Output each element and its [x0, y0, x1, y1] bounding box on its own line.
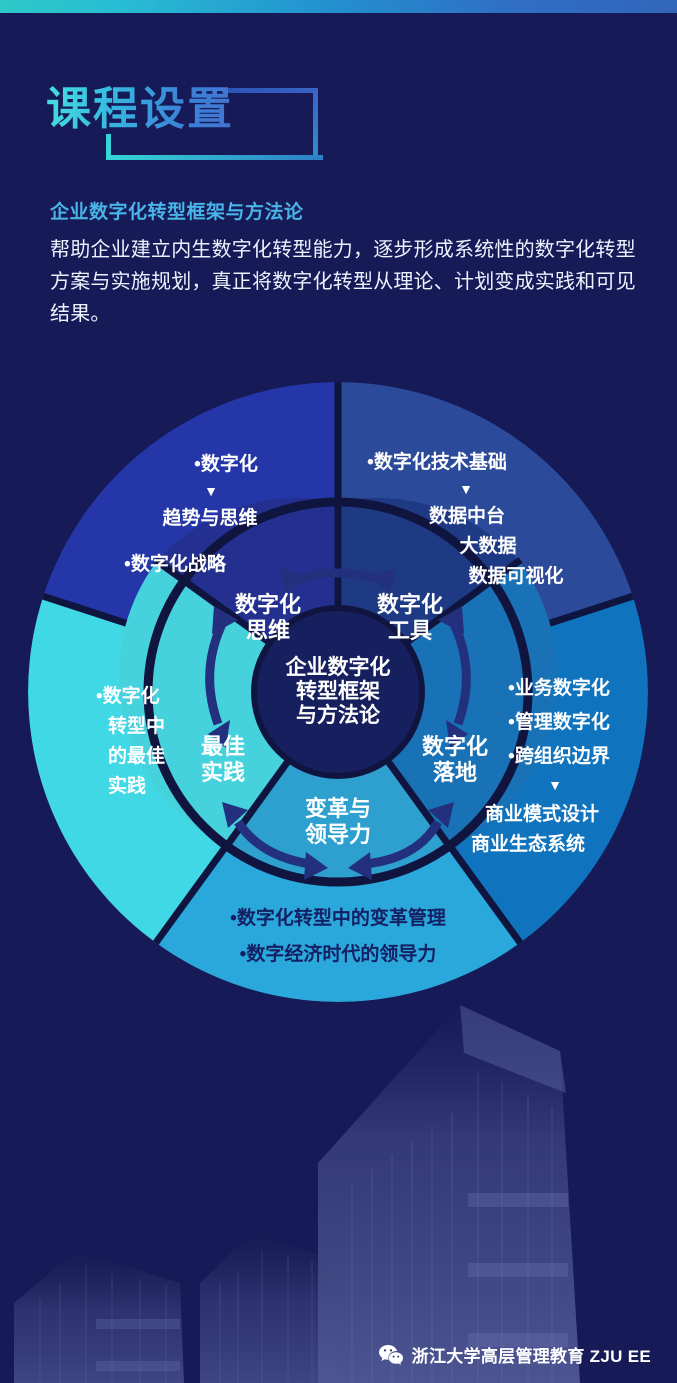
svg-text:商业生态系统: 商业生态系统 [471, 832, 585, 855]
svg-text:变革与: 变革与 [305, 796, 371, 821]
title-frame-right-edge [313, 88, 318, 160]
svg-text:趋势与思维: 趋势与思维 [162, 506, 257, 529]
svg-text:工具: 工具 [388, 618, 432, 643]
framework-donut-diagram: 企业数字化 转型框架 与方法论 数字化 思维 数字化 工具 数字化 落地 [18, 372, 658, 1012]
svg-text:•数字化: •数字化 [96, 684, 160, 707]
svg-text:思维: 思维 [246, 618, 290, 643]
inner-label-change-leadership: 变革与 领导力 [305, 796, 371, 847]
svg-text:商业模式设计: 商业模式设计 [485, 802, 599, 825]
svg-text:•业务数字化: •业务数字化 [508, 676, 610, 699]
building-middle [200, 1233, 336, 1383]
inner-label-best-practice: 最佳 实践 [201, 734, 245, 785]
svg-text:•跨组织边界: •跨组织边界 [508, 744, 610, 767]
center-label: 企业数字化 转型框架 与方法论 [285, 655, 391, 727]
svg-text:•数字化技术基础: •数字化技术基础 [367, 450, 507, 473]
page-title-block: 课程设置 [46, 80, 346, 165]
svg-text:数据中台: 数据中台 [429, 504, 505, 527]
center-line-2: 转型框架 [296, 679, 380, 703]
wechat-icon [378, 1344, 404, 1366]
center-line-3: 与方法论 [296, 703, 381, 727]
svg-text:的最佳: 的最佳 [108, 744, 165, 767]
svg-text:领导力: 领导力 [305, 822, 371, 847]
intro-heading: 企业数字化转型框架与方法论 [50, 200, 640, 226]
svg-text:•数字化战略: •数字化战略 [124, 552, 227, 575]
svg-text:•数字化转型中的变革管理: •数字化转型中的变革管理 [230, 906, 446, 929]
svg-text:数字化: 数字化 [377, 592, 443, 617]
svg-text:数字化: 数字化 [235, 592, 301, 617]
svg-text:实践: 实践 [108, 774, 146, 797]
center-line-1: 企业数字化 [285, 655, 391, 679]
svg-text:大数据: 大数据 [459, 534, 516, 557]
svg-text:数据可视化: 数据可视化 [468, 564, 563, 587]
svg-text:▼: ▼ [459, 481, 473, 497]
building-left [14, 1251, 184, 1383]
page-title: 课程设置 [46, 80, 234, 138]
svg-text:•数字经济时代的领导力: •数字经济时代的领导力 [240, 942, 437, 965]
svg-text:数字化: 数字化 [422, 734, 488, 759]
svg-text:最佳: 最佳 [201, 734, 245, 759]
top-accent-bar [0, 0, 677, 13]
footer-text: 浙江大学高层管理教育 ZJU EE [412, 1342, 651, 1367]
intro-body: 帮助企业建立内生数字化转型能力，逐步形成系统性的数字化转型方案与实施规划，真正将… [50, 234, 640, 330]
svg-text:▼: ▼ [548, 777, 562, 793]
svg-text:落地: 落地 [433, 760, 477, 785]
poster-page: 课程设置 企业数字化转型框架与方法论 帮助企业建立内生数字化转型能力，逐步形成系… [0, 0, 677, 1383]
title-frame-top-edge [222, 88, 318, 93]
svg-text:•管理数字化: •管理数字化 [508, 710, 610, 733]
svg-text:•数字化: •数字化 [194, 452, 258, 475]
svg-text:实践: 实践 [201, 760, 245, 785]
footer-brand: 浙江大学高层管理教育 ZJU EE [378, 1342, 651, 1367]
buildings-svg [0, 983, 677, 1383]
title-frame-bottom-edge [106, 155, 323, 160]
svg-text:转型中: 转型中 [108, 714, 165, 737]
svg-text:▼: ▼ [204, 483, 218, 499]
campus-building-illustration [0, 983, 677, 1383]
building-main [318, 1005, 580, 1383]
intro-block: 企业数字化转型框架与方法论 帮助企业建立内生数字化转型能力，逐步形成系统性的数字… [50, 200, 640, 330]
